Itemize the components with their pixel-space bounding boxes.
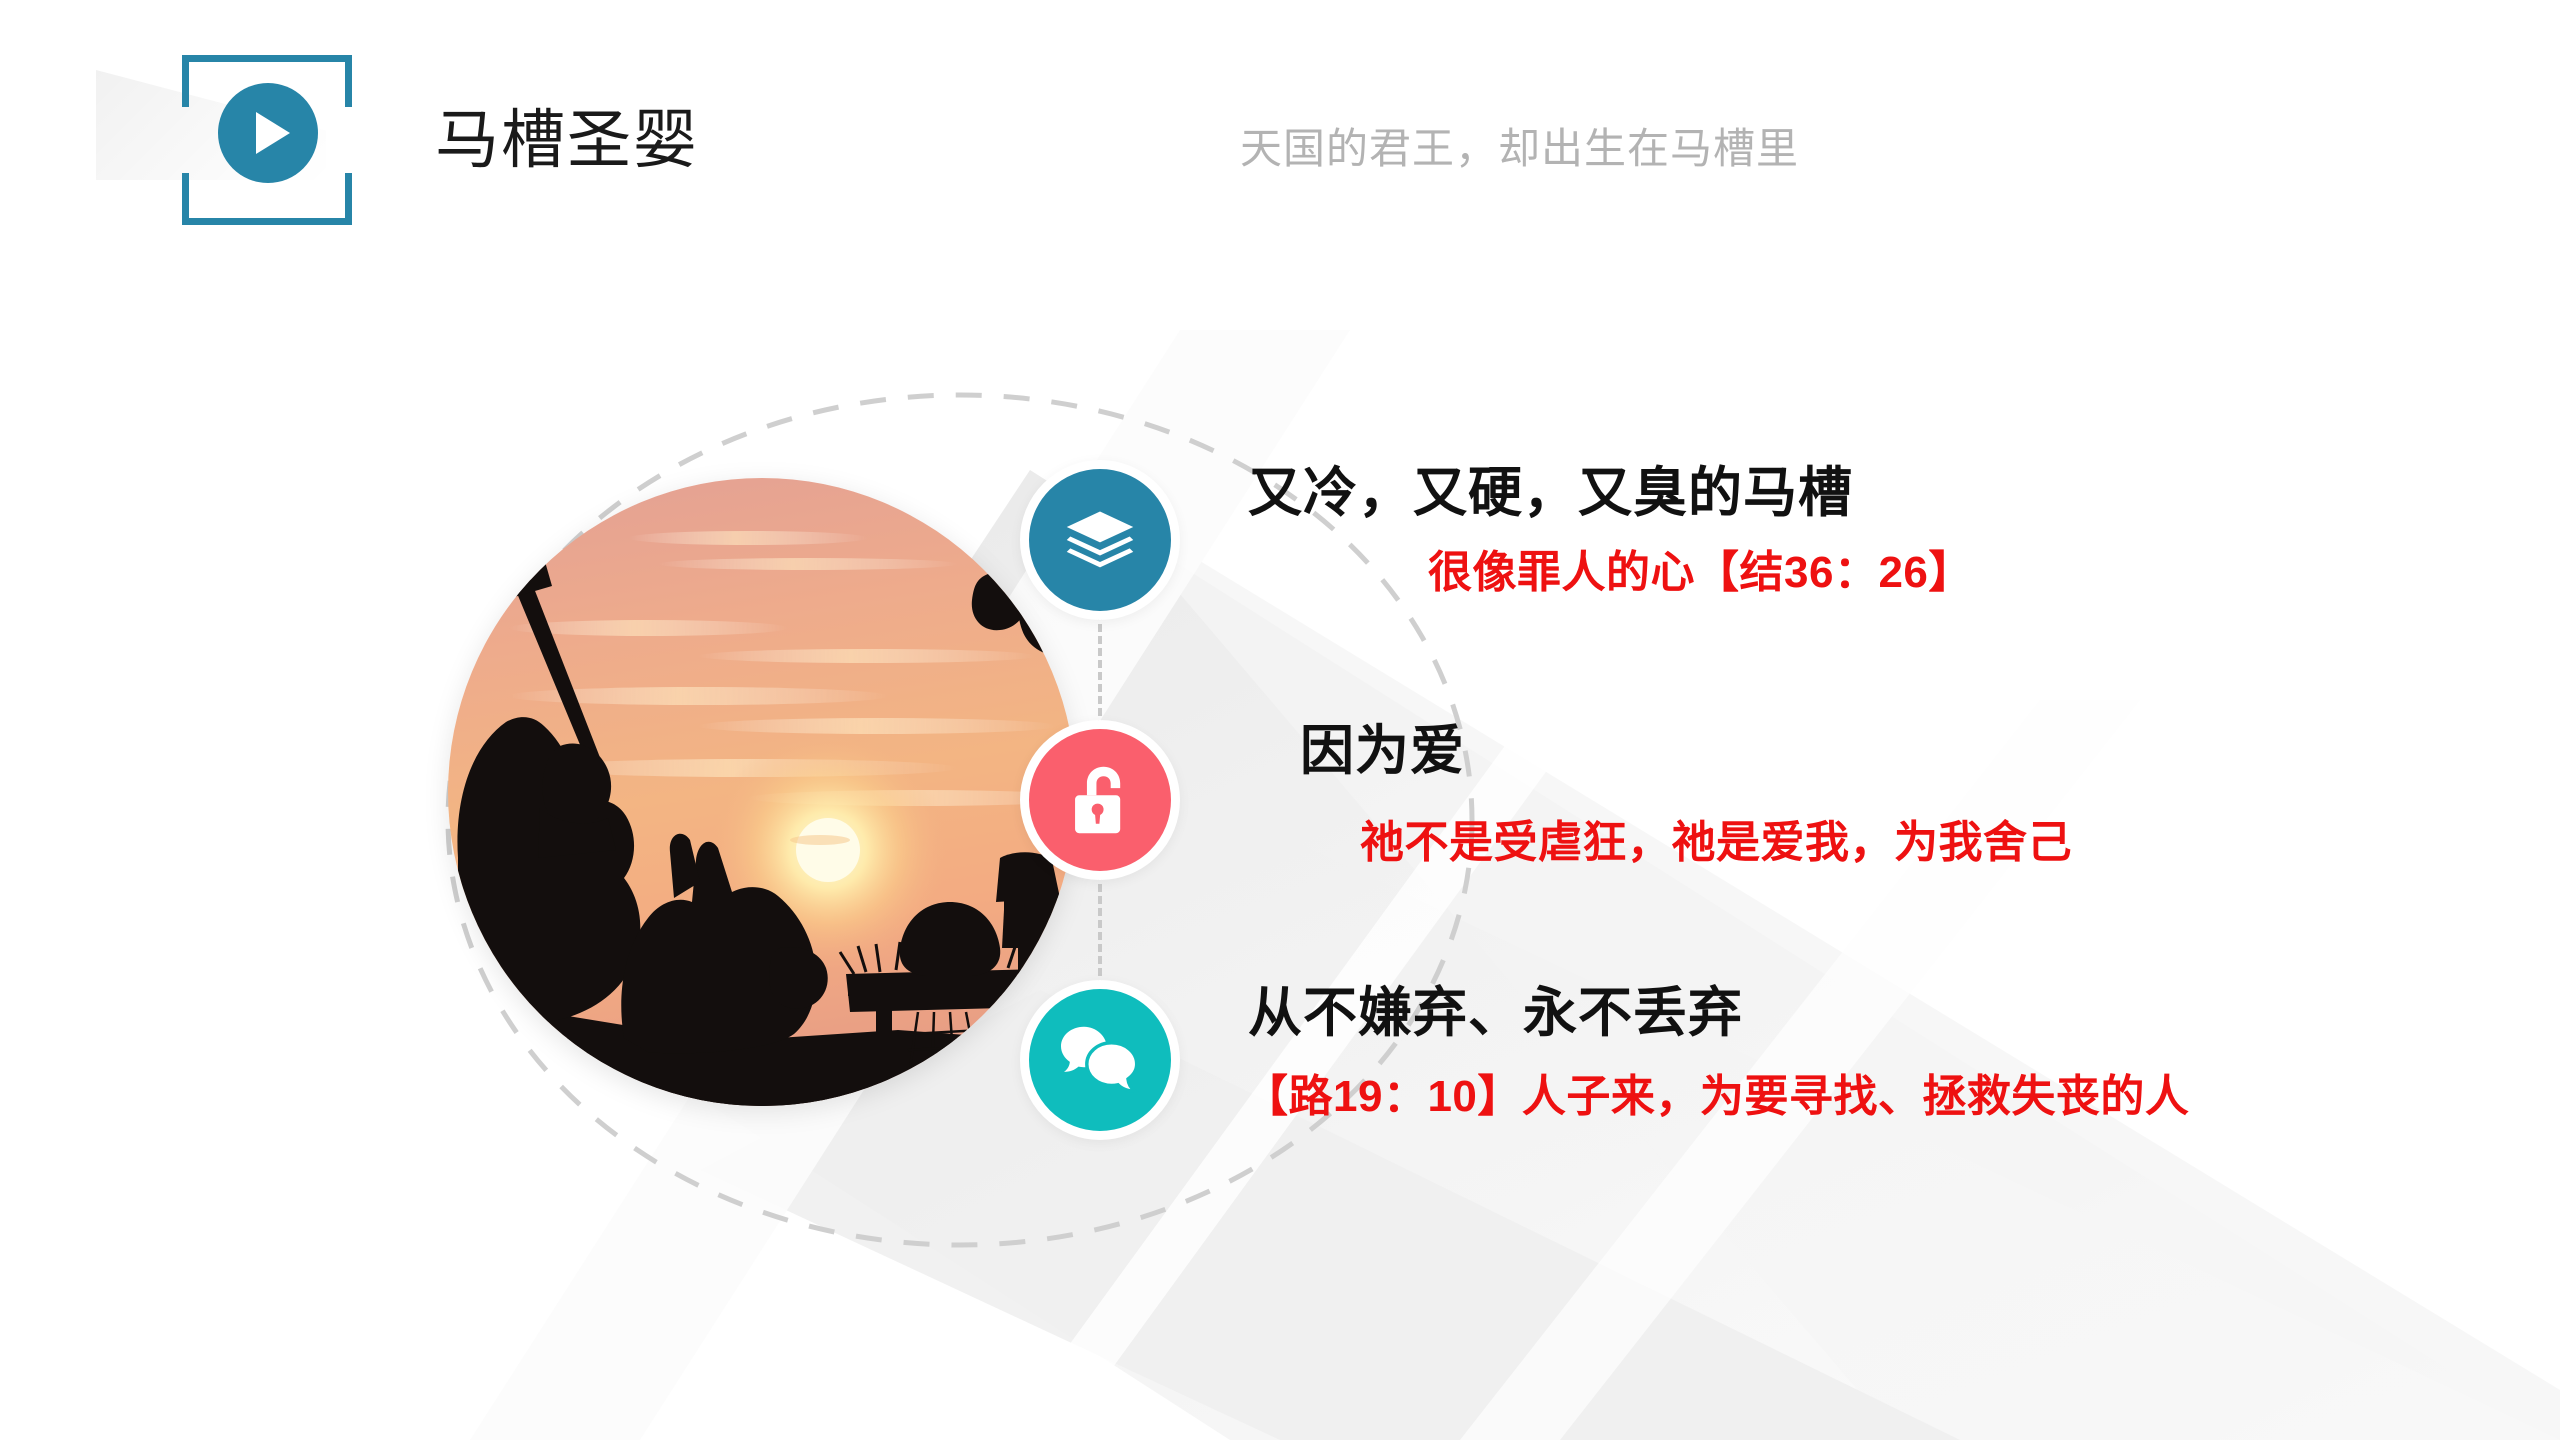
slide-canvas: 马槽圣婴 天国的君王，却出生在马槽里 — [0, 0, 2560, 1440]
unlock-icon[interactable] — [1020, 720, 1180, 880]
feature-list: 又冷，又硬，又臭的马槽 很像罪人的心【结36：26】 因为爱 祂不是受虐狂，祂是… — [0, 0, 2560, 1440]
feature-heading: 从不嫌弃、永不丢弃 — [1248, 982, 2550, 1046]
timeline-connector — [1098, 612, 1105, 728]
feature-subtext: 【路19：10】人子来，为要寻找、拯救失丧的人 — [1244, 1068, 2394, 1126]
layers-icon[interactable] — [1020, 460, 1180, 620]
layers-glyph — [1062, 502, 1138, 578]
timeline-connector — [1098, 872, 1105, 988]
feature-text: 又冷，又硬，又臭的马槽 很像罪人的心【结36：26】 — [1220, 462, 2550, 602]
feature-subtext: 很像罪人的心【结36：26】 — [1428, 544, 2550, 602]
feature-text: 从不嫌弃、永不丢弃 【路19：10】人子来，为要寻找、拯救失丧的人 — [1220, 982, 2550, 1126]
unlock-glyph — [1067, 762, 1133, 838]
feature-text: 因为爱 祂不是受虐狂，祂是爱我，为我舍己 — [1220, 720, 2550, 872]
speech-bubbles-icon[interactable] — [1020, 980, 1180, 1140]
feature-heading: 因为爱 — [1300, 720, 2550, 784]
speech-bubbles-glyph — [1061, 1024, 1139, 1096]
feature-heading: 又冷，又硬，又臭的马槽 — [1248, 462, 2550, 526]
feature-subtext: 祂不是受虐狂，祂是爱我，为我舍己 — [1360, 814, 2550, 872]
